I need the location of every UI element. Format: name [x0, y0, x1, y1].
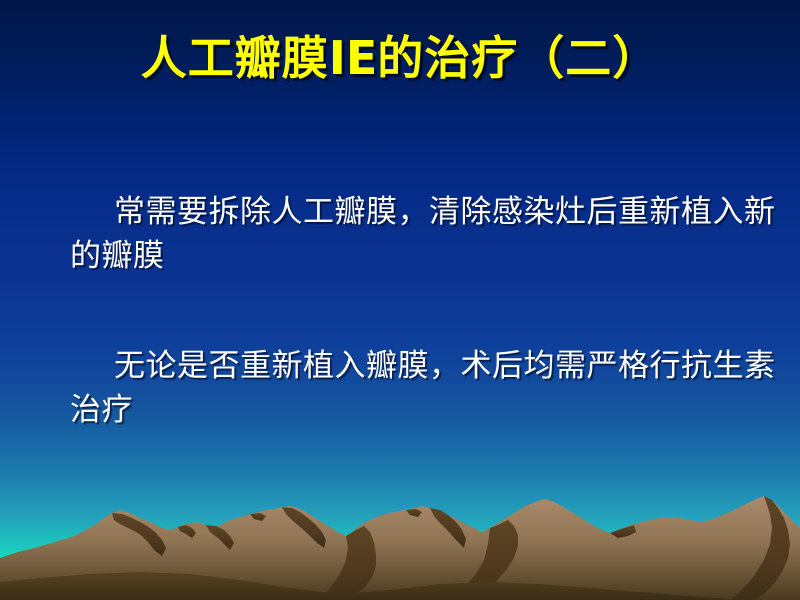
mountain-silhouette-graphic: [0, 470, 800, 600]
body-paragraph-1: 常需要拆除人工瓣膜，清除感染灶后重新植入新的瓣膜: [70, 190, 782, 278]
presentation-slide: 人工瓣膜IE的治疗（二） 常需要拆除人工瓣膜，清除感染灶后重新植入新的瓣膜 无论…: [0, 0, 800, 600]
title-segment-latin: IE: [329, 31, 378, 85]
slide-title: 人工瓣膜IE的治疗（二）: [0, 34, 800, 84]
slide-title-text: 人工瓣膜IE的治疗（二）: [141, 34, 660, 84]
mountain-svg: [0, 470, 800, 600]
title-segment-before: 人工瓣膜: [141, 31, 329, 85]
title-segment-after: 的治疗（二）: [377, 31, 659, 85]
body-paragraph-2: 无论是否重新植入瓣膜，术后均需严格行抗生素治疗: [70, 344, 782, 432]
slide-body: 常需要拆除人工瓣膜，清除感染灶后重新植入新的瓣膜 无论是否重新植入瓣膜，术后均需…: [70, 190, 782, 432]
